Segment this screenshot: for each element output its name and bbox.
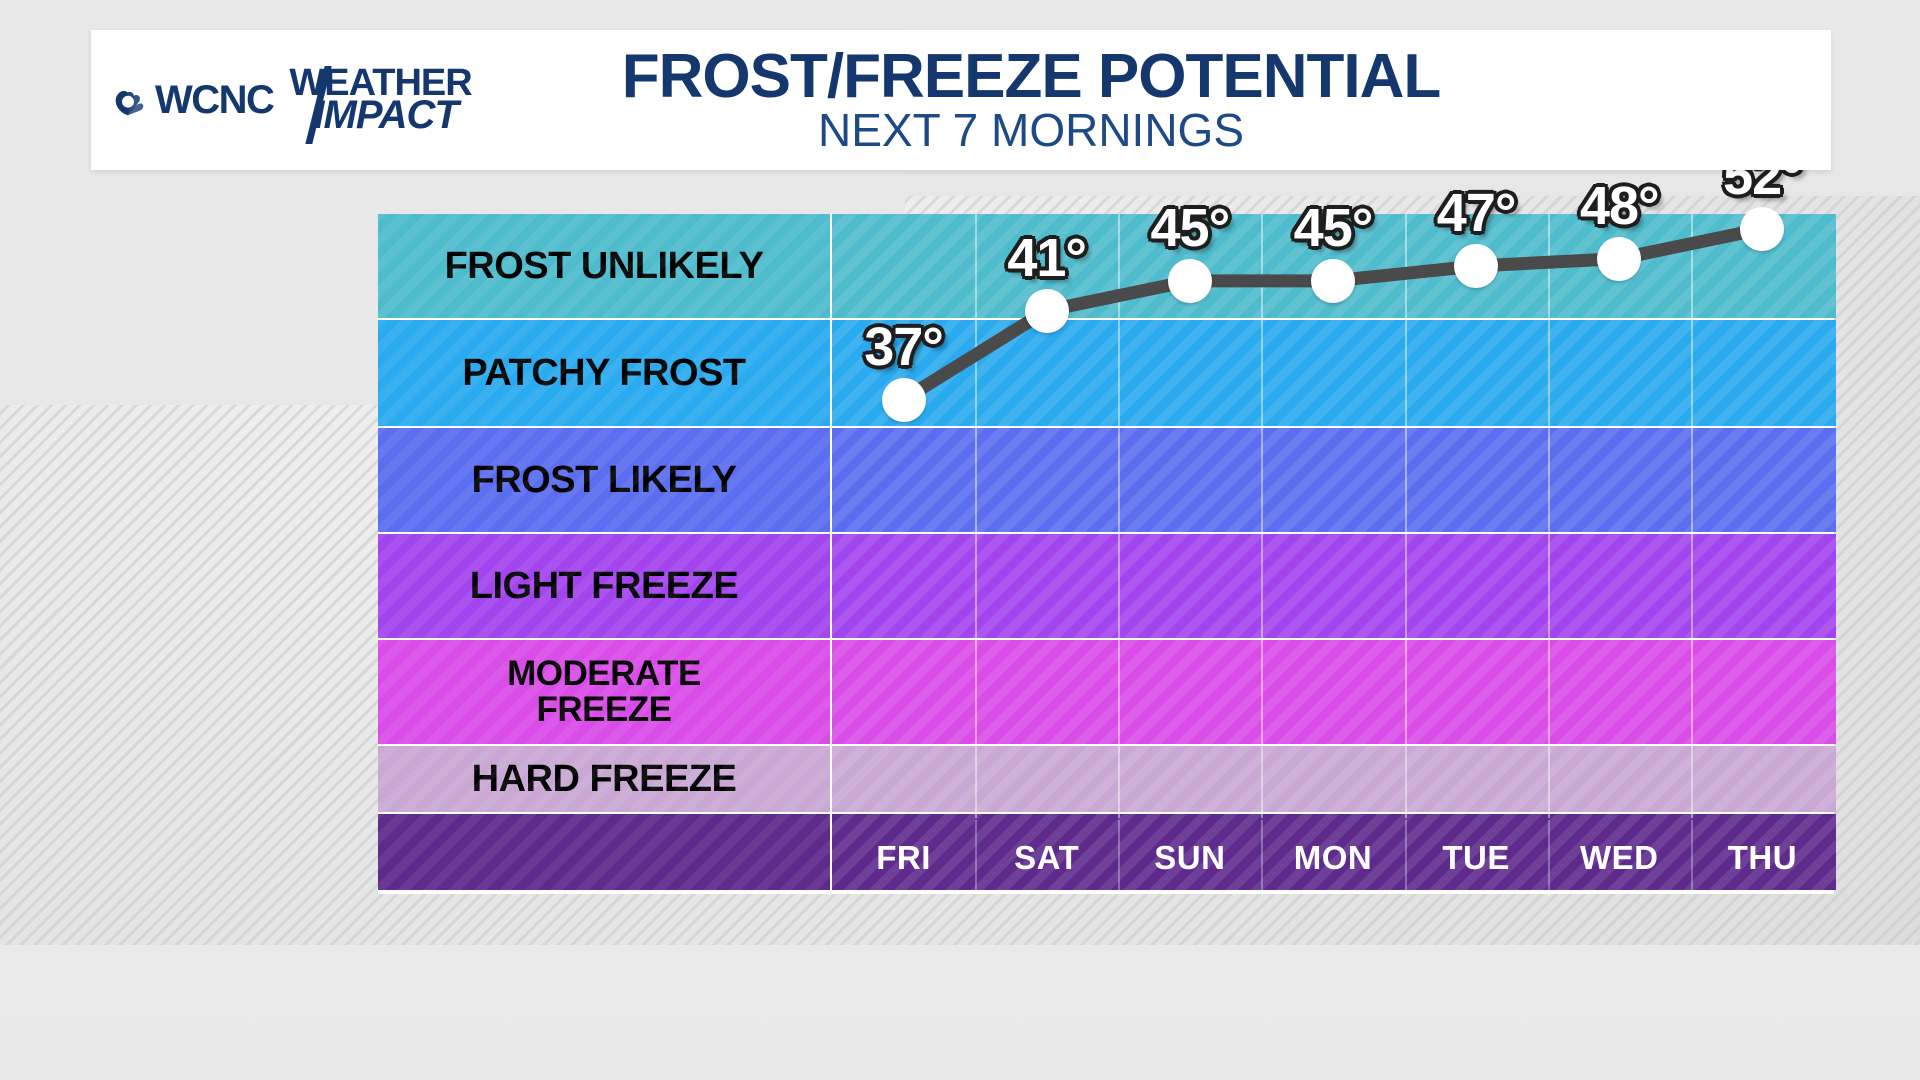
band-label-hard-freeze: HARD FREEZE [378, 746, 830, 812]
weather-impact-line2: IMPACT [313, 99, 471, 132]
band-plot-frost-unlikely [832, 214, 1836, 318]
band-label-moderate-freeze: MODERATE FREEZE [378, 640, 830, 744]
band-label-text: PATCHY FROST [462, 354, 745, 393]
band-label-text: FROST UNLIKELY [445, 247, 764, 286]
wcnc-wordmark: WCNC [155, 80, 273, 120]
header-titles: FROST/FREEZE POTENTIAL NEXT 7 MORNINGS [531, 46, 1531, 154]
band-label-frost-likely: FROST LIKELY [378, 428, 830, 532]
band-plot-light-freeze [832, 534, 1836, 638]
page-title: FROST/FREEZE POTENTIAL [531, 46, 1531, 108]
band-label-text: FROST LIKELY [472, 461, 737, 500]
band-label-light-freeze: LIGHT FREEZE [378, 534, 830, 638]
page-subtitle: NEXT 7 MORNINGS [531, 106, 1531, 154]
band-label-text: LIGHT FREEZE [470, 567, 738, 606]
band-plot-patchy-frost [832, 320, 1836, 426]
band-label-text: MODERATE FREEZE [507, 656, 701, 727]
frost-freeze-chart: FROST UNLIKELYPATCHY FROSTFROST LIKELYLI… [378, 214, 1834, 894]
weather-impact-logo: WEATHER IMPACT [289, 68, 471, 132]
graphic-header: WCNC WEATHER IMPACT FROST/FREEZE POTENTI… [91, 30, 1831, 170]
station-branding: WCNC WEATHER IMPACT [111, 68, 531, 132]
band-label-patchy-frost: PATCHY FROST [378, 320, 830, 426]
footer-day-strip [832, 814, 1836, 890]
band-plot-moderate-freeze [832, 640, 1836, 744]
background-bottom [0, 945, 1920, 1080]
band-label-text: HARD FREEZE [472, 760, 737, 799]
band-label-frost-unlikely: FROST UNLIKELY [378, 214, 830, 318]
nbc-peacock-icon [111, 83, 145, 117]
band-plot-hard-freeze [832, 746, 1836, 812]
chart-grid: FROST UNLIKELYPATCHY FROSTFROST LIKELYLI… [378, 214, 1834, 894]
footer-corner [378, 814, 830, 890]
band-plot-frost-likely [832, 428, 1836, 532]
